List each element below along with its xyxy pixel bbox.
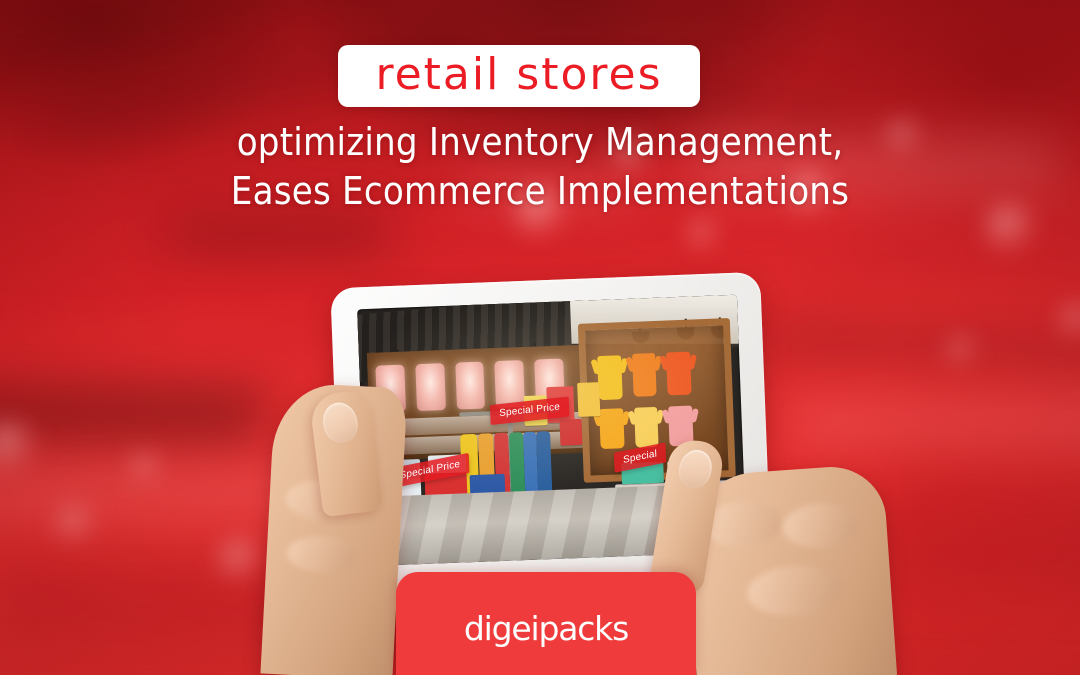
knuckle xyxy=(745,562,844,619)
subtitle-line-1: optimizing Inventory Management, xyxy=(237,120,844,164)
subtitle-block: optimizing Inventory Management, Eases E… xyxy=(0,118,1080,215)
knuckle xyxy=(286,535,358,575)
brand-logo-text: digeipacks xyxy=(464,609,628,648)
brand-logo[interactable]: digeipacks xyxy=(396,612,696,645)
subtitle-line-2: Eases Ecommerce Implementations xyxy=(90,167,990,216)
fingernail-icon xyxy=(675,446,716,491)
headline-badge: retail stores xyxy=(338,45,700,107)
thumbnail-icon xyxy=(319,399,361,446)
banner-canvas: retail stores optimizing Inventory Manag… xyxy=(0,0,1080,675)
headline-badge-text: retail stores xyxy=(375,53,662,97)
knuckle xyxy=(781,501,860,550)
